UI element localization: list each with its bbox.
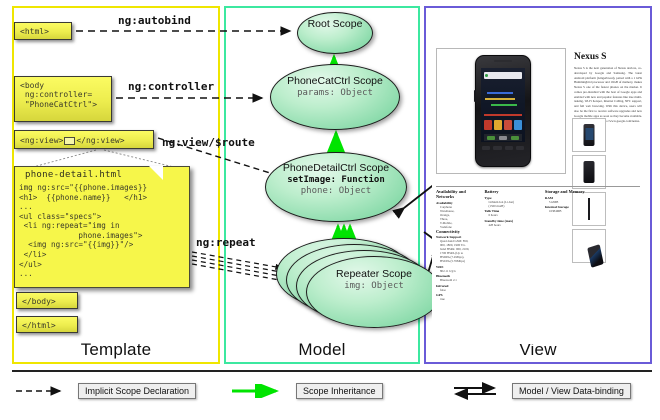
legend-item-binding: Model / View Data-binding: [452, 380, 631, 402]
phone-app-icon-1: [484, 120, 492, 130]
phone-app-icon-2: [494, 120, 502, 130]
scope-root: Root Scope: [297, 12, 373, 54]
phone-button-search: [505, 146, 513, 150]
thumb-front-icon: [584, 124, 595, 146]
hero-image-frame: [436, 48, 566, 174]
spec-value: 802.11 b/g/n: [440, 269, 488, 273]
phone-app-icon-4: [514, 120, 522, 130]
ngview-close-label: </ng:view>: [76, 136, 124, 145]
phone-button-back: [482, 146, 490, 150]
spec-header: Connectivity: [436, 229, 488, 234]
label-ng-view-route: ng:view/$route: [162, 136, 255, 149]
legend-item-implicit: Implicit Scope Declaration: [14, 380, 196, 402]
spec-value: 16384MB: [549, 209, 593, 213]
panel-template-label: Template: [14, 340, 218, 360]
spec-header: Storage and Memory: [545, 189, 593, 194]
legend-green-arrow-icon: [230, 384, 288, 398]
legend-implicit-label: Implicit Scope Declaration: [78, 383, 196, 399]
phone-app-icon-row: [484, 120, 522, 132]
phone-dock-icon-2: [499, 136, 507, 140]
specification-table: Availability and Networks Availability C…: [436, 186, 640, 301]
spec-column-availability: Availability and Networks Availability C…: [436, 189, 480, 229]
ngview-slot-icon: [64, 137, 75, 145]
note-code: img ng:src="{{phone.images}} <h1> {{phon…: [15, 182, 189, 279]
note-corner-fold-icon: [149, 166, 163, 180]
code-tag-html-close: </html>: [16, 316, 78, 333]
phone-screen-line-4: [484, 114, 522, 116]
phone-side-button: [474, 90, 476, 102]
thumbnail-front[interactable]: [572, 118, 606, 152]
phone-screen-line-3: [491, 104, 517, 106]
phone-app-icon-3: [504, 120, 512, 130]
panel-model-label: Model: [226, 340, 418, 360]
scope-repeater: Repeater Scope img: Object: [306, 256, 442, 328]
thumb-back-icon: [584, 161, 595, 183]
rendered-view-page: Nexus S Nexus S is the next generation o…: [432, 14, 644, 344]
legend-binding-label: Model / View Data-binding: [512, 383, 631, 399]
ngview-open-label: <ng:view>: [20, 136, 63, 145]
legend-inheritance-label: Scope Inheritance: [296, 383, 383, 399]
legend-double-arrow-icon: [452, 382, 504, 400]
phone-button-menu: [493, 146, 501, 150]
thumbnail-back[interactable]: [572, 155, 606, 189]
scope-root-name: Root Scope: [298, 13, 372, 31]
label-ng-repeat: ng:repeat: [196, 236, 256, 249]
phone-screen-line-1: [487, 92, 513, 94]
template-note-phone-detail: phone-detail.html img ng:src="{{phone.im…: [14, 166, 190, 288]
phone-dock-icon-3: [511, 136, 519, 140]
spec-value: CarphoneWarehouse,Orange,Three,T-Mobile,…: [440, 205, 480, 229]
scope-phonedetailctrl-name: PhoneDetailCtrl Scope: [266, 153, 406, 175]
scope-phonedetailctrl-prop-setimage: setImage: Function: [266, 175, 406, 186]
spec-value: Bluetooth 2.1: [440, 278, 488, 282]
spec-value: 512MB: [549, 200, 593, 204]
label-ng-controller: ng:controller: [128, 80, 214, 93]
label-ng-autobind: ng:autobind: [118, 14, 191, 27]
spec-value: false: [440, 288, 488, 292]
phone-dock-icon-1: [487, 136, 495, 140]
phone-button-home: [516, 146, 524, 150]
code-tag-body: <body ng:controller= "PhoneCatCtrl">: [14, 76, 112, 122]
product-description: Nexus S is the next generation of Nexus …: [574, 66, 642, 123]
phone-hero-image: [475, 55, 529, 165]
spec-header: Availability and Networks: [436, 189, 480, 199]
code-tag-html: <html>: [14, 22, 72, 40]
phone-dock: [484, 134, 522, 141]
spec-value: true: [440, 297, 488, 301]
spec-column-battery: Battery Type Lithium Ion (Li-Ion)(1500 m…: [484, 189, 540, 227]
phone-body: [475, 55, 531, 167]
spec-column-storage: Storage and Memory RAM 512MB Internal St…: [545, 189, 593, 213]
phone-screen: [481, 68, 525, 142]
legend-item-inheritance: Scope Inheritance: [230, 380, 383, 402]
code-tag-ngview: <ng:view></ng:view>: [14, 130, 154, 149]
phone-search-dot-icon: [485, 74, 488, 77]
spec-header: Battery: [484, 189, 540, 194]
product-title: Nexus S: [574, 52, 606, 62]
spec-value: 6 hours: [488, 213, 540, 217]
scope-phonedetailctrl: PhoneDetailCtrl Scope setImage: Function…: [265, 152, 407, 222]
legend-divider: [12, 370, 652, 372]
legend: Implicit Scope Declaration Scope Inherit…: [12, 380, 652, 406]
phone-hardware-buttons: [482, 146, 524, 152]
scope-phonedetailctrl-prop-phone: phone: Object: [266, 186, 406, 197]
phone-search-bar: [484, 72, 522, 79]
scope-phonecatctrl-prop-params: params: Object: [271, 88, 399, 99]
scope-phonecatctrl: PhoneCatCtrl Scope params: Object: [270, 64, 400, 130]
scope-phonecatctrl-name: PhoneCatCtrl Scope: [271, 65, 399, 88]
code-tag-body-close: </body>: [16, 292, 78, 309]
legend-dashed-arrow-icon: [14, 384, 70, 398]
phone-screen-line-2: [485, 98, 515, 100]
scope-repeater-prop-img: img: Object: [307, 281, 441, 292]
spec-column-connectivity: Connectivity Network Support Quad-band G…: [436, 229, 488, 302]
spec-value: Lithium Ion (Li-Ion)(1500 mAH): [488, 200, 540, 208]
spec-value: 428 hours: [488, 223, 540, 227]
spec-value: Quad-band GSM: 850,900, 1800, 1900 Tri-b…: [440, 239, 488, 263]
phone-speaker: [494, 60, 512, 62]
scope-repeater-name: Repeater Scope: [307, 257, 441, 281]
